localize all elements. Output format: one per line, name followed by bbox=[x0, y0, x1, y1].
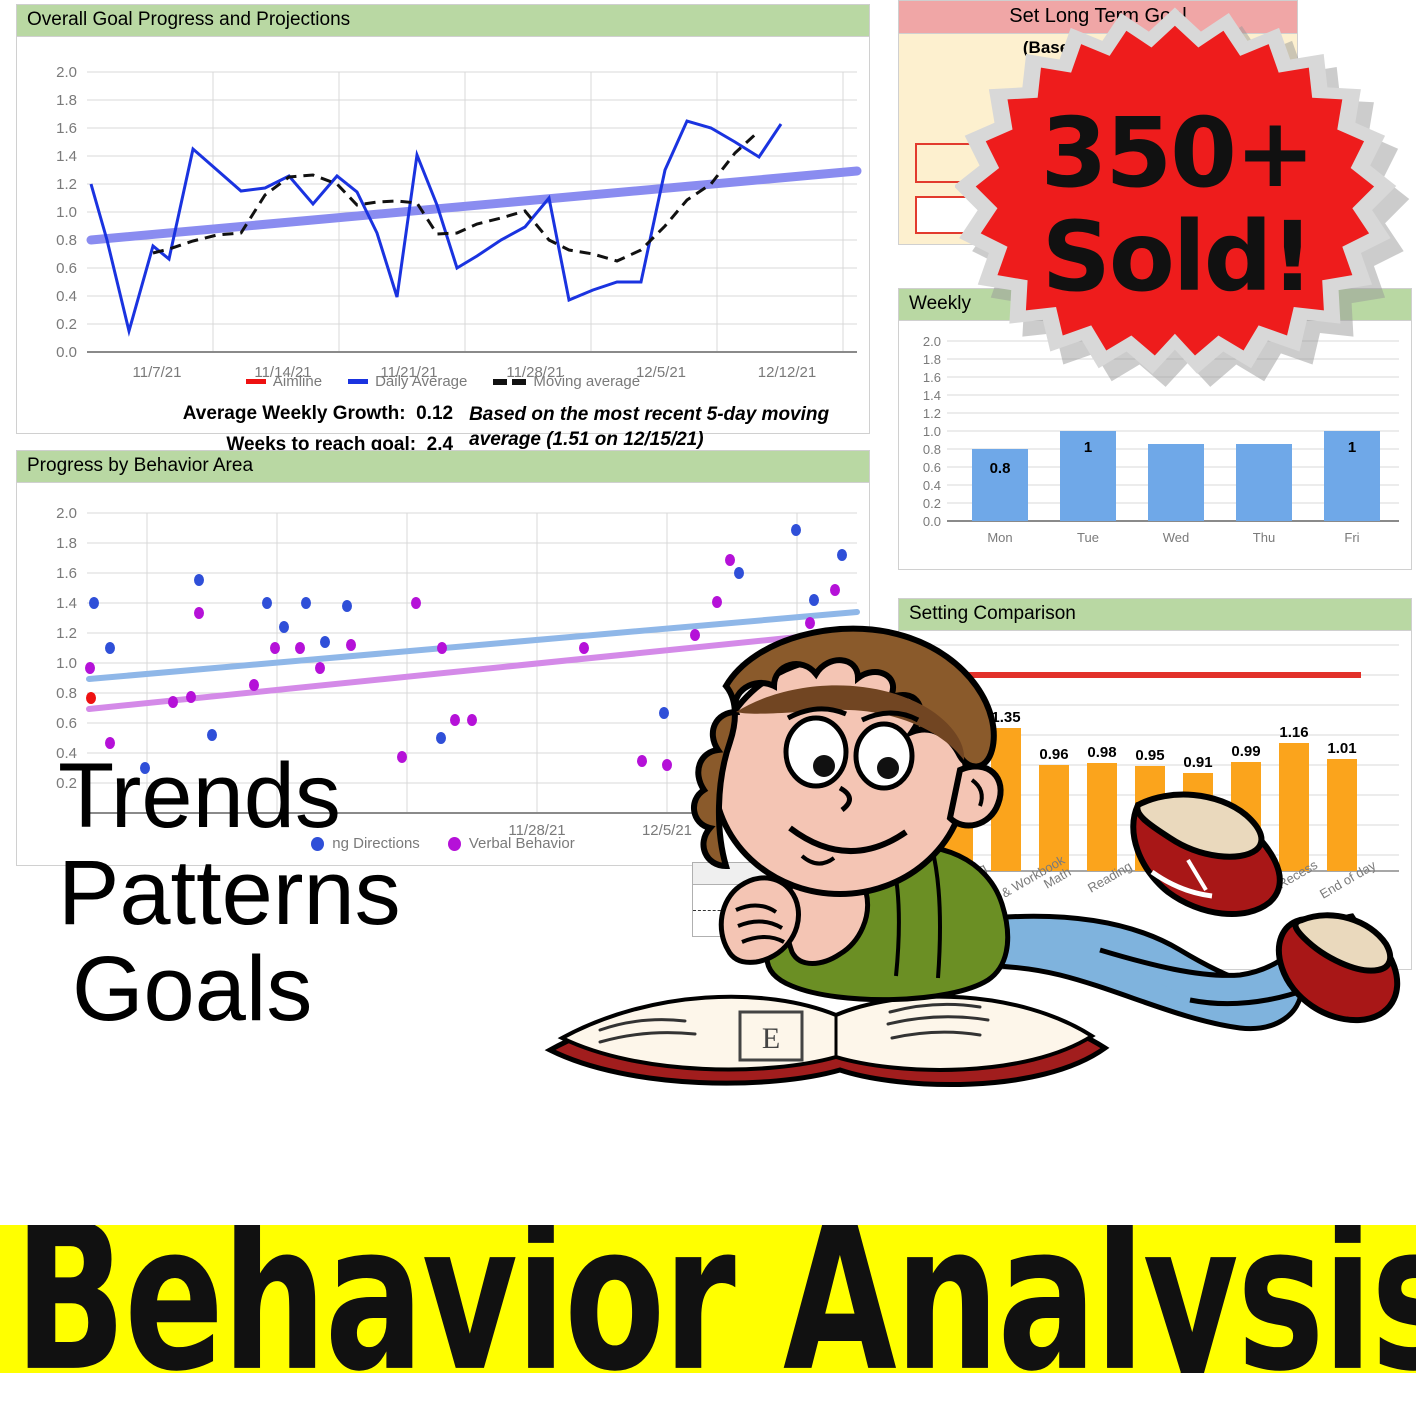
legend-swatch-daily-average bbox=[348, 379, 368, 384]
svg-text:Wed: Wed bbox=[1163, 530, 1190, 545]
svg-text:0.2: 0.2 bbox=[923, 496, 941, 511]
svg-text:1.4: 1.4 bbox=[923, 388, 941, 403]
svg-text:0.4: 0.4 bbox=[923, 478, 941, 493]
svg-text:0.0: 0.0 bbox=[56, 344, 77, 361]
eye bbox=[786, 718, 846, 786]
svg-text:2.0: 2.0 bbox=[56, 64, 77, 81]
svg-text:0.2: 0.2 bbox=[56, 316, 77, 333]
svg-text:0.8: 0.8 bbox=[990, 460, 1011, 477]
svg-text:0.0: 0.0 bbox=[923, 514, 941, 529]
svg-text:1.8: 1.8 bbox=[56, 535, 77, 552]
svg-text:1.2: 1.2 bbox=[56, 176, 77, 193]
sold-badge-line2: Sold! bbox=[1042, 201, 1313, 313]
svg-text:1.0: 1.0 bbox=[923, 424, 941, 439]
sold-badge: 350+ Sold! bbox=[955, 0, 1415, 410]
legend-label-moving-average: Moving average bbox=[533, 373, 640, 390]
legend-swatch-aimline bbox=[246, 379, 266, 384]
svg-text:Tue: Tue bbox=[1077, 530, 1099, 545]
banner-title: Behavior Analysis bbox=[14, 1225, 1402, 1373]
svg-text:1.6: 1.6 bbox=[56, 565, 77, 582]
svg-text:1: 1 bbox=[1084, 439, 1092, 456]
legend-swatch-moving-average-a bbox=[493, 379, 507, 385]
svg-text:1.2: 1.2 bbox=[923, 406, 941, 421]
svg-text:1.8: 1.8 bbox=[56, 92, 77, 109]
legend-swatch-moving-average-b bbox=[512, 379, 526, 385]
shoe-icon bbox=[1133, 795, 1280, 914]
growth-value: 0.12 bbox=[416, 403, 453, 424]
svg-text:0.8: 0.8 bbox=[56, 685, 77, 702]
svg-text:0.6: 0.6 bbox=[923, 460, 941, 475]
svg-text:0.6: 0.6 bbox=[56, 715, 77, 732]
svg-text:E: E bbox=[762, 1022, 780, 1055]
overall-chart-legend: Aimline Daily Average Moving average bbox=[17, 373, 869, 390]
svg-text:1.4: 1.4 bbox=[56, 595, 77, 612]
eye bbox=[856, 724, 912, 788]
svg-text:0.6: 0.6 bbox=[56, 260, 77, 277]
overall-goal-chart: 2.0 1.8 1.6 1.4 1.2 1.0 0.8 0.6 0.4 0.2 … bbox=[17, 37, 869, 385]
open-book-icon: E bbox=[550, 997, 1105, 1085]
svg-text:Fri: Fri bbox=[1344, 530, 1359, 545]
overlay-word-patterns: Patterns bbox=[58, 845, 401, 942]
panel-behavior-title: Progress by Behavior Area bbox=[16, 450, 870, 482]
svg-text:Thu: Thu bbox=[1253, 530, 1275, 545]
svg-text:1.4: 1.4 bbox=[56, 148, 77, 165]
panel-overall-goal: Overall Goal Progress and Projections bbox=[16, 4, 870, 434]
svg-text:1.6: 1.6 bbox=[923, 370, 941, 385]
svg-text:2.0: 2.0 bbox=[56, 505, 77, 522]
growth-label: Average Weekly Growth: bbox=[183, 403, 406, 424]
overlay-word-goals: Goals bbox=[58, 941, 401, 1038]
svg-text:1.8: 1.8 bbox=[923, 352, 941, 367]
svg-text:0.4: 0.4 bbox=[56, 288, 77, 305]
legend-label-aimline: Aimline bbox=[273, 373, 322, 390]
svg-text:1.0: 1.0 bbox=[56, 204, 77, 221]
svg-text:1.2: 1.2 bbox=[56, 625, 77, 642]
svg-text:1: 1 bbox=[1348, 439, 1356, 456]
boy-reading-illustration: E bbox=[540, 620, 1416, 1120]
panel-overall-title: Overall Goal Progress and Projections bbox=[16, 4, 870, 36]
legend-swatch-verbal-behavior bbox=[448, 837, 461, 851]
overlay-keywords: Trends Patterns Goals bbox=[58, 748, 401, 1038]
bottom-banner: Behavior Analysis bbox=[0, 1225, 1416, 1373]
svg-text:1.0: 1.0 bbox=[56, 655, 77, 672]
ear bbox=[950, 766, 1001, 825]
svg-text:0.8: 0.8 bbox=[923, 442, 941, 457]
overlay-word-trends: Trends bbox=[58, 748, 401, 845]
svg-text:Mon: Mon bbox=[987, 530, 1012, 545]
svg-text:1.6: 1.6 bbox=[56, 120, 77, 137]
panel-overall-body: 2.0 1.8 1.6 1.4 1.2 1.0 0.8 0.6 0.4 0.2 … bbox=[16, 36, 870, 434]
svg-text:0.8: 0.8 bbox=[56, 232, 77, 249]
baseline-point bbox=[86, 692, 96, 704]
sold-badge-line1: 350+ bbox=[1041, 97, 1314, 209]
svg-text:2.0: 2.0 bbox=[923, 334, 941, 349]
legend-label-daily-average: Daily Average bbox=[375, 373, 467, 390]
